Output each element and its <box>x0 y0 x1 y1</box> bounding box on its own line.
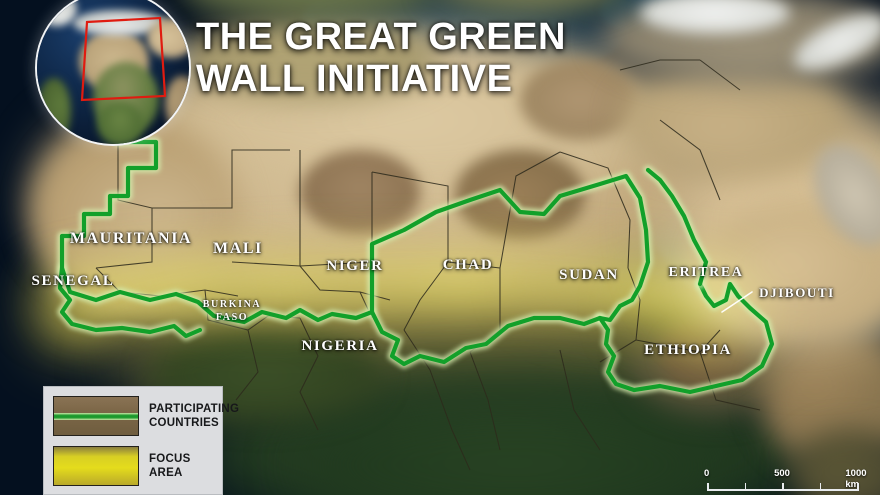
scale-tick-label-1: 500 <box>774 468 790 479</box>
scale-tick-label-0: 0 <box>704 468 709 479</box>
scale-tick-1 <box>745 483 747 491</box>
focus-swatch <box>53 446 139 486</box>
legend-item-focus-area: FOCUS AREA <box>53 446 214 486</box>
page-title: THE GREAT GREEN WALL INITIATIVE <box>196 16 566 100</box>
globe-sphere <box>37 0 189 144</box>
legend-label-participating-countries: PARTICIPATING COUNTRIES <box>149 402 239 430</box>
great-green-wall-outline <box>60 142 772 392</box>
scale-tick-2 <box>782 483 784 491</box>
map-legend: PARTICIPATING COUNTRIES FOCUS AREA <box>43 386 223 495</box>
region-highlight-box <box>37 0 189 144</box>
scale-bar: 05001000 km <box>707 468 857 493</box>
legend-item-participating-countries: PARTICIPATING COUNTRIES <box>53 396 214 436</box>
map-screenshot: THE GREAT GREEN WALL INITIATIVE MAURITAN… <box>0 0 880 495</box>
scale-tick-4 <box>857 483 859 491</box>
scale-tick-0 <box>707 483 709 491</box>
scale-tick-3 <box>820 483 822 491</box>
scale-bar-ruler <box>707 483 857 493</box>
globe-inset <box>37 2 189 137</box>
participating-swatch <box>53 396 139 436</box>
scale-bar-labels: 05001000 km <box>707 468 857 481</box>
legend-label-focus-area: FOCUS AREA <box>149 452 214 480</box>
